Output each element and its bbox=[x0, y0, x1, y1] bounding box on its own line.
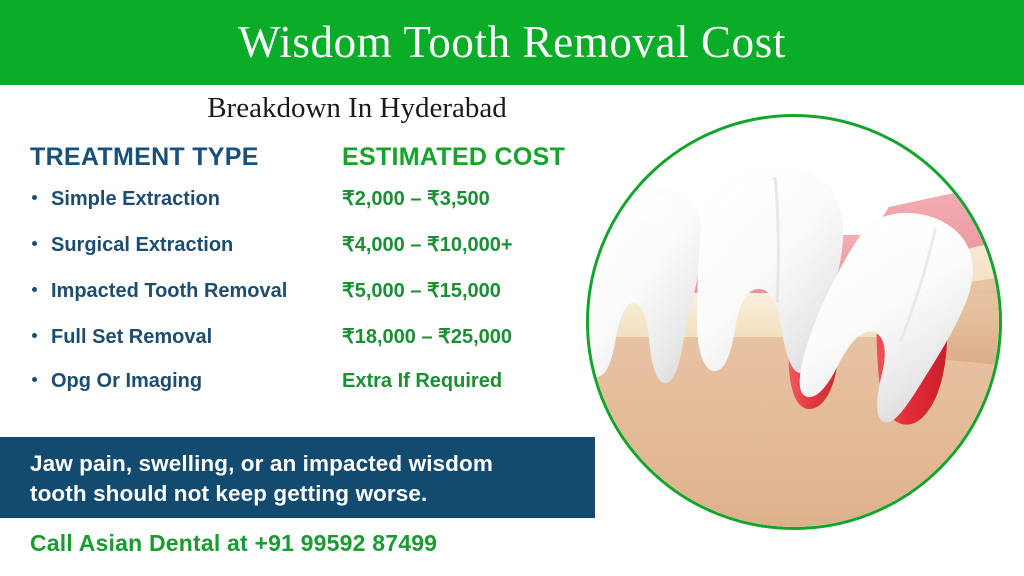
cell-estimated-cost: ₹4,000 – ₹10,000+ bbox=[342, 232, 513, 257]
call-to-action-phone[interactable]: Call Asian Dental at +91 99592 87499 bbox=[30, 530, 437, 557]
column-header-estimated-cost: ESTIMATED COST bbox=[342, 143, 565, 172]
cell-treatment-type: Surgical Extraction bbox=[30, 234, 342, 257]
cell-estimated-cost: ₹5,000 – ₹15,000 bbox=[342, 278, 501, 303]
treatment-label: Impacted Tooth Removal bbox=[51, 280, 287, 303]
callout-bar: Jaw pain, swelling, or an impacted wisdo… bbox=[0, 437, 595, 518]
impacted-tooth-icon bbox=[589, 117, 999, 527]
bullet-icon bbox=[32, 241, 37, 246]
bullet-icon bbox=[32, 377, 37, 382]
treatment-label: Simple Extraction bbox=[51, 188, 220, 211]
cell-estimated-cost: Extra If Required bbox=[342, 370, 502, 393]
cell-treatment-type: Full Set Removal bbox=[30, 326, 342, 349]
table-header-row: TREATMENT TYPE ESTIMATED COST bbox=[30, 143, 590, 172]
treatment-label: Surgical Extraction bbox=[51, 234, 233, 257]
table-row: Surgical Extraction ₹4,000 – ₹10,000+ bbox=[30, 232, 590, 278]
column-header-treatment-type: TREATMENT TYPE bbox=[30, 143, 342, 172]
illustration-clip bbox=[589, 117, 999, 527]
table-row: Impacted Tooth Removal ₹5,000 – ₹15,000 bbox=[30, 278, 590, 324]
header-banner: Wisdom Tooth Removal Cost bbox=[0, 0, 1024, 85]
cell-treatment-type: Impacted Tooth Removal bbox=[30, 280, 342, 303]
table-body: Simple Extraction ₹2,000 – ₹3,500 Surgic… bbox=[30, 186, 590, 416]
bullet-icon bbox=[32, 195, 37, 200]
cell-estimated-cost: ₹18,000 – ₹25,000 bbox=[342, 324, 512, 349]
cell-treatment-type: Simple Extraction bbox=[30, 188, 342, 211]
subtitle: Breakdown In Hyderabad bbox=[0, 90, 1024, 128]
table-row: Opg Or Imaging Extra If Required bbox=[30, 370, 590, 416]
treatment-label: Opg Or Imaging bbox=[51, 370, 202, 393]
price-table: TREATMENT TYPE ESTIMATED COST Simple Ext… bbox=[30, 143, 590, 416]
table-row: Simple Extraction ₹2,000 – ₹3,500 bbox=[30, 186, 590, 232]
bullet-icon bbox=[32, 287, 37, 292]
infographic-poster: Wisdom Tooth Removal Cost Breakdown In H… bbox=[0, 0, 1024, 576]
callout-line-1: Jaw pain, swelling, or an impacted wisdo… bbox=[30, 449, 569, 479]
callout-line-2: tooth should not keep getting worse. bbox=[30, 479, 569, 509]
cell-treatment-type: Opg Or Imaging bbox=[30, 370, 342, 393]
page-title: Wisdom Tooth Removal Cost bbox=[238, 20, 786, 65]
treatment-label: Full Set Removal bbox=[51, 326, 212, 349]
table-row: Full Set Removal ₹18,000 – ₹25,000 bbox=[30, 324, 590, 370]
bullet-icon bbox=[32, 333, 37, 338]
wisdom-tooth-illustration bbox=[586, 114, 1002, 530]
cell-estimated-cost: ₹2,000 – ₹3,500 bbox=[342, 186, 490, 211]
